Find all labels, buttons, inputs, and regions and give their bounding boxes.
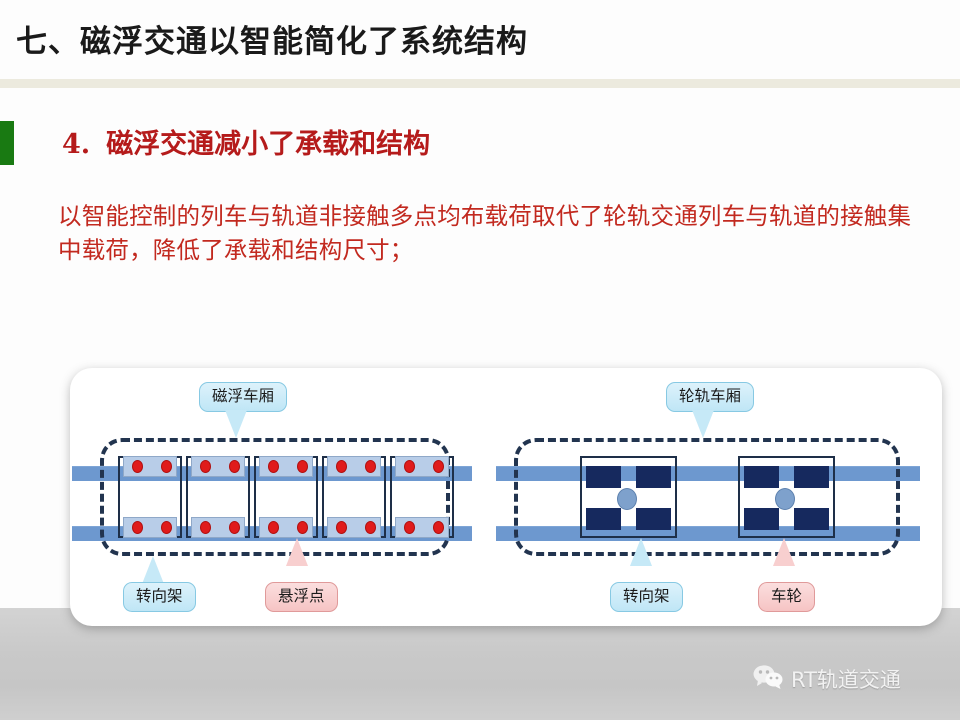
levitation-pad-bottom — [395, 517, 449, 538]
levitation-point — [229, 460, 240, 473]
callout-levitation-point: 悬浮点 — [265, 582, 338, 612]
levitation-point — [404, 521, 415, 534]
subheading: 4.磁浮交通减小了承载和结构 — [62, 122, 430, 161]
wheel — [794, 508, 829, 530]
levitation-pad-top — [395, 456, 449, 477]
subheading-label: 磁浮交通减小了承载和结构 — [106, 129, 430, 160]
levitation-pad-bottom — [123, 517, 177, 538]
levitation-point — [161, 460, 172, 473]
callout-pointer-wheelrail-bogie — [630, 538, 652, 566]
levitation-point — [433, 460, 444, 473]
levitation-point — [132, 521, 143, 534]
body-paragraph: 以智能控制的列车与轨道非接触多点均布载荷取代了轮轨交通列车与轨道的接触集中载荷，… — [58, 199, 916, 267]
callout-pointer-maglev-car — [225, 410, 247, 438]
levitation-point — [365, 521, 376, 534]
levitation-pad-top — [327, 456, 381, 477]
callout-maglev-bogie: 转向架 — [123, 582, 196, 612]
levitation-point — [200, 521, 211, 534]
levitation-point — [336, 521, 347, 534]
figure-card: 磁浮车厢 转向架 悬浮点 — [70, 368, 942, 626]
levitation-point — [229, 521, 240, 534]
watermark-text: RT轨道交通 — [791, 664, 901, 694]
wechat-icon — [753, 664, 783, 694]
levitation-point — [268, 460, 279, 473]
levitation-point — [336, 460, 347, 473]
levitation-point — [404, 460, 415, 473]
levitation-pad-top — [259, 456, 313, 477]
callout-wheelrail-car: 轮轨车厢 — [666, 382, 754, 412]
title-divider — [0, 79, 960, 88]
levitation-pad-top — [191, 456, 245, 477]
maglev-diagram: 磁浮车厢 转向架 悬浮点 — [82, 368, 502, 626]
axle-center — [617, 488, 637, 510]
maglev-bogie — [390, 456, 454, 538]
callout-wheel: 车轮 — [758, 582, 815, 612]
wheel — [794, 466, 829, 488]
callout-wheelrail-bogie: 转向架 — [610, 582, 683, 612]
maglev-bogie — [186, 456, 250, 538]
callout-pointer-maglev-bogie — [142, 556, 164, 584]
callout-pointer-wheel — [773, 538, 795, 566]
levitation-pad-top — [123, 456, 177, 477]
levitation-point — [161, 521, 172, 534]
wheelrail-car-body — [514, 438, 900, 556]
levitation-point — [268, 521, 279, 534]
wheel — [744, 466, 779, 488]
maglev-bogie — [118, 456, 182, 538]
callout-maglev-car: 磁浮车厢 — [199, 382, 287, 412]
levitation-point — [297, 460, 308, 473]
levitation-point — [365, 460, 376, 473]
wheel — [586, 508, 621, 530]
wheelrail-bogie — [738, 456, 835, 538]
maglev-bogie — [322, 456, 386, 538]
watermark: RT轨道交通 — [753, 664, 901, 694]
levitation-pad-bottom — [191, 517, 245, 538]
wheelrail-bogie — [580, 456, 677, 538]
page-title: 七、磁浮交通以智能简化了系统结构 — [16, 16, 528, 61]
maglev-bogie — [254, 456, 318, 538]
callout-pointer-levitation-point — [286, 538, 308, 566]
subheading-number: 4. — [62, 129, 90, 160]
wheel — [636, 508, 671, 530]
axle-center — [775, 488, 795, 510]
levitation-point — [132, 460, 143, 473]
levitation-pad-bottom — [327, 517, 381, 538]
wheelrail-diagram: 轮轨车厢 转向架 车轮 — [490, 368, 930, 626]
wheel — [744, 508, 779, 530]
green-accent-bar — [0, 121, 14, 165]
slide-canvas: 七、磁浮交通以智能简化了系统结构 4.磁浮交通减小了承载和结构 以智能控制的列车… — [0, 0, 960, 720]
callout-pointer-wheelrail-car — [692, 410, 714, 438]
levitation-pad-bottom — [259, 517, 313, 538]
slide-header: 七、磁浮交通以智能简化了系统结构 — [0, 16, 960, 72]
levitation-point — [297, 521, 308, 534]
wheel — [636, 466, 671, 488]
levitation-point — [433, 521, 444, 534]
wheel — [586, 466, 621, 488]
levitation-point — [200, 460, 211, 473]
